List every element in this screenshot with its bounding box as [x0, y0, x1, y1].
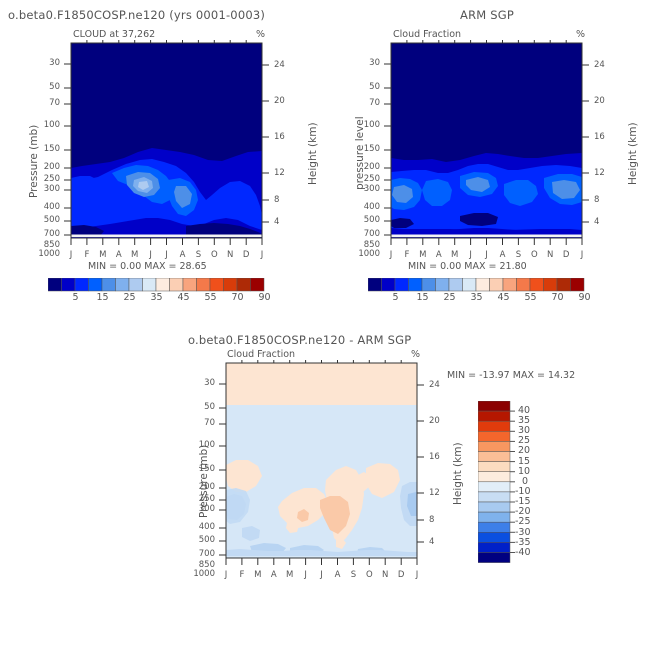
panel-model-units: %	[256, 29, 265, 40]
panel-obs-title: ARM SGP	[460, 8, 514, 22]
figure-canvas: o.beta0.F1850COSP.ne120 (yrs 0001-0003) …	[0, 0, 654, 654]
panel-model-title: o.beta0.F1850COSP.ne120 (yrs 0001-0003)	[8, 8, 265, 22]
panel-difference-plot	[170, 360, 470, 600]
colorbar-swatches	[48, 278, 264, 291]
panel-model-minmax: MIN = 0.00 MAX = 28.65	[88, 261, 207, 272]
panel-obs-minmax: MIN = 0.00 MAX = 21.80	[408, 261, 527, 272]
panel-difference-title: o.beta0.F1850COSP.ne120 - ARM SGP	[188, 333, 411, 347]
colorbar-difference	[478, 401, 518, 571]
panel-obs-units: %	[576, 29, 585, 40]
colorbar-swatches	[368, 278, 584, 291]
colorbar-cloud-model	[48, 278, 278, 292]
panel-obs-subtitle: Cloud Fraction	[393, 29, 461, 40]
panel-difference-subtitle: Cloud Fraction	[227, 349, 295, 360]
panel-obs: ARM SGP Cloud Fraction % pressure level …	[340, 0, 654, 310]
panel-difference-minmax: MIN = -13.97 MAX = 14.32	[447, 370, 575, 381]
panel-difference-units: %	[411, 349, 420, 360]
panel-model: o.beta0.F1850COSP.ne120 (yrs 0001-0003) …	[0, 0, 330, 310]
colorbar-cloud-obs	[368, 278, 598, 292]
colorbar-swatches	[478, 401, 510, 563]
panel-model-subtitle: CLOUD at 37,262	[73, 29, 155, 40]
panel-difference: o.beta0.F1850COSP.ne120 - ARM SGP Cloud …	[170, 325, 654, 585]
